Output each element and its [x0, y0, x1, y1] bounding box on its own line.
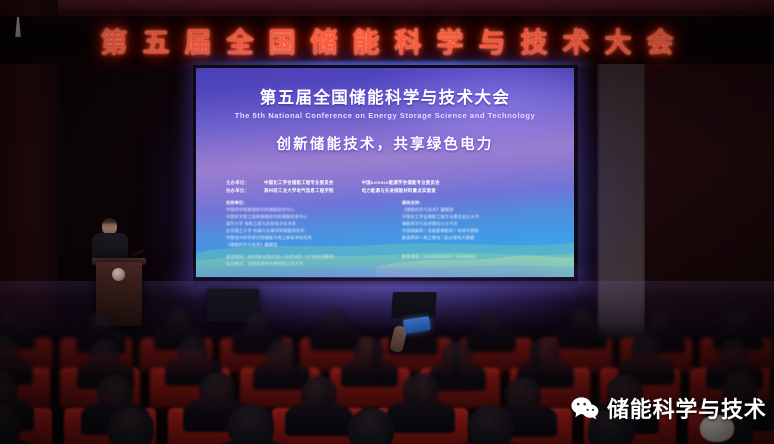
led-banner: 第五届全国储能科学与技术大会 [0, 16, 774, 64]
slide-host-line: 主办单位： 中国化工学会储能工程专业委员会 中国science能源学会储能专业委… [226, 180, 548, 186]
list-item: 储能科学与技术微信公众平台 [402, 220, 548, 227]
list-item: 会议地点：河南省郑州市郑州轻工业大学 [226, 260, 372, 267]
slide-title: 第五届全国储能科学与技术大会 [196, 84, 574, 108]
slide-footer-right: 联系电话：010-64519601 / 64519601 [402, 253, 548, 267]
list-item: 中国科学院物理研究所储能研究中心 [226, 206, 372, 213]
audience-head [468, 405, 514, 444]
led-banner-text: 第五届全国储能科学与技术大会 [86, 21, 689, 60]
ceiling-strip [0, 0, 774, 14]
host-value-2: 中国science能源学会储能专业委员会 [362, 180, 440, 186]
audience-shoulders [207, 440, 294, 444]
list-item: 《储能科学与技术》编辑部 [226, 241, 372, 248]
audience-head [108, 407, 154, 444]
list-item: 清华大学 电机工程与应用电子技术系 [226, 220, 372, 227]
support-value-2: 电力能源与先进储能材料重点实验室 [362, 188, 436, 194]
slide-right-column: 媒体支持： 《储能科学与技术》编辑部 中国化工学会储能工程专业委员会公众号 储能… [402, 199, 548, 248]
list-item: 中国化工学会储能工程专业委员会公众号 [402, 213, 548, 220]
list-item: 联系电话：010-64519601 / 64519601 [402, 253, 548, 260]
host-label: 主办单位： [226, 180, 254, 186]
list-item: 《储能科学与技术》编辑部 [402, 206, 548, 213]
slide-support-line: 协办单位： 郑州轻工业大学电气信息工程学院 电力能源与先进储能材料重点实验室 [226, 188, 548, 194]
list-item: 中国储能网 / 北极星储能网 / 电池中国网 [402, 227, 548, 234]
list-item: 支持单位： [226, 199, 372, 206]
projection-screen: 第五届全国储能科学与技术大会 The 5th National Conferen… [196, 68, 574, 277]
slide-content: 第五届全国储能科学与技术大会 The 5th National Conferen… [196, 68, 574, 277]
wechat-icon [571, 396, 599, 420]
slide-organizer-block: 主办单位： 中国化工学会储能工程专业委员会 中国science能源学会储能专业委… [226, 180, 548, 267]
watermark-text: 储能科学与技术 [607, 392, 767, 424]
audience-shoulders [0, 439, 42, 444]
podium-emblem [112, 268, 125, 281]
list-item: 媒体支持： [402, 199, 548, 206]
audience-head [348, 408, 394, 444]
list-item: 北京理工大学 机械与车辆学院储能研究所 [226, 227, 372, 234]
conference-photo: 第五届全国储能科学与技术大会 第五届全国储能科学与技术大会 The 5th Na… [0, 0, 774, 444]
slide-footer: 会议时间：2023年11月17日—11月19日（17日全天报到） 会议地点：河南… [226, 253, 548, 267]
host-value: 中国化工学会储能工程专业委员会 [264, 180, 334, 186]
list-item: 中国电力科学研究院储能与电工新技术研究所 [226, 234, 372, 241]
list-item: 能源界网 / 高工锂电 / 起点锂电大数据 [402, 234, 548, 241]
audience-head [228, 404, 274, 444]
slide-left-column: 支持单位： 中国科学院物理研究所储能研究中心 中国科学院工程热物理研究所储能研发… [226, 199, 372, 248]
list-item: 会议时间：2023年11月17日—11月19日（17日全天报到） [226, 253, 372, 260]
list-item: 中国科学院工程热物理研究所储能研发中心 [226, 213, 372, 220]
support-value: 郑州轻工业大学电气信息工程学院 [264, 188, 334, 194]
watermark: 储能科学与技术 [571, 392, 767, 424]
slide-footer-left: 会议时间：2023年11月17日—11月19日（17日全天报到） 会议地点：河南… [226, 253, 372, 267]
support-label: 协办单位： [226, 188, 254, 194]
slide-detail-columns: 支持单位： 中国科学院物理研究所储能研究中心 中国科学院工程热物理研究所储能研发… [226, 199, 548, 248]
slide-subtitle: The 5th National Conference on Energy St… [196, 111, 574, 120]
slide-slogan: 创新储能技术，共享绿色电力 [196, 133, 574, 154]
